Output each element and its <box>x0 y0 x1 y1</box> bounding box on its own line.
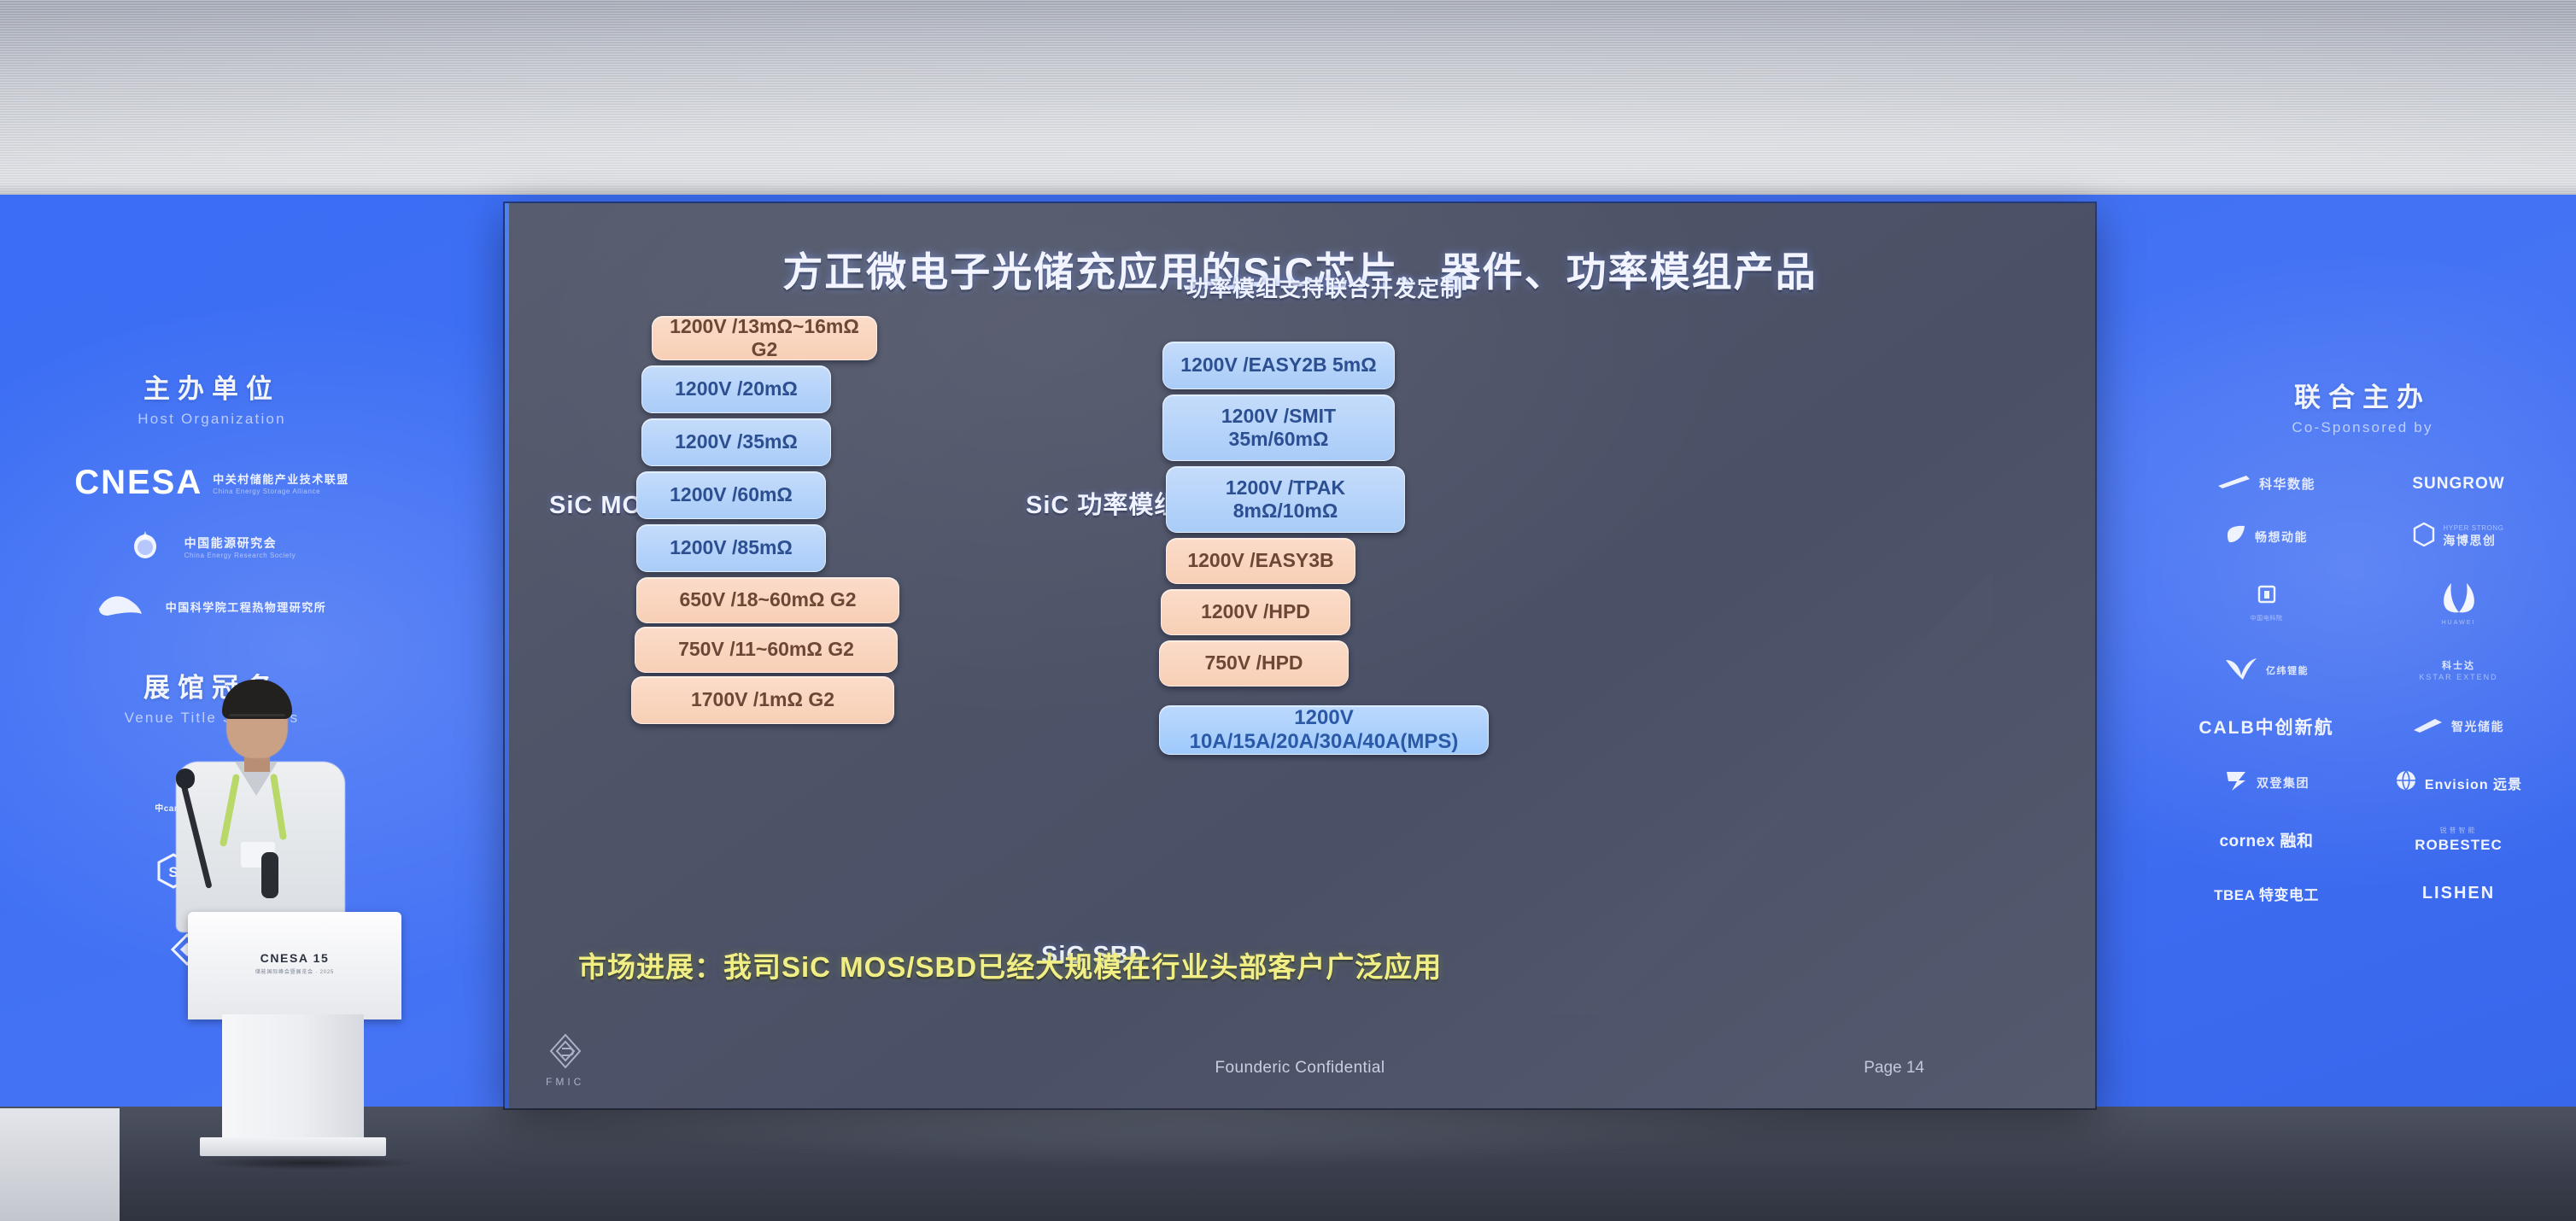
calb-icon: CALB中创新航 <box>2198 714 2333 739</box>
wave-icon <box>97 592 143 622</box>
kstar-logo: 科士达 KSTAR EXTEND <box>2419 658 2497 681</box>
engineering-thermophysics-logo: 中国科学院工程热物理研究所 <box>97 592 327 622</box>
host-organization-panel: 主办单位 Host Organization CNESA 中关村储能产业技术联盟… <box>41 367 383 622</box>
changxiang-logo: 畅想动能 <box>2225 524 2308 549</box>
podium-top: CNESA 15 储能国际峰会暨展览会 · 2025 <box>188 912 401 1019</box>
leaf-icon <box>2225 524 2247 549</box>
host-panel-title-cn: 主办单位 <box>41 367 383 406</box>
cornex-icon: cornex 融和 <box>2219 828 2313 851</box>
speaker-glasses <box>229 714 285 725</box>
hyperstrong-logo-right: HYPER STRONG 海博思创 <box>2413 523 2503 551</box>
stage-scene: 主办单位 Host Organization CNESA 中关村储能产业技术联盟… <box>0 0 2576 1221</box>
sungrow-wordmark: SUNGROW <box>2412 475 2504 494</box>
tbea-logo: TBEA 特变电工 <box>2214 883 2319 904</box>
wing-icon <box>2413 716 2444 738</box>
podium-logo-sub: 储能国际峰会暨展览会 · 2025 <box>188 967 401 975</box>
cepri-logo-right: 中国电科院 <box>2251 584 2283 622</box>
y-icon <box>2224 655 2258 685</box>
podium-shadow <box>203 1156 417 1170</box>
podium: CNESA 15 储能国际峰会暨展览会 · 2025 <box>188 912 401 1168</box>
cnesa-wordmark: CNESA <box>74 464 202 502</box>
sic-sbd-pill-1[interactable]: 1200V 10A/15A/20A/30A/40A(MPS) <box>1159 705 1489 755</box>
sungrow-logo: SUNGROW <box>2412 475 2504 494</box>
speaker: CNESA 15 储能国际峰会暨展览会 · 2025 <box>94 666 401 1221</box>
robestec-icon: ROBESTEC <box>2415 837 2502 854</box>
sic-mos-pill-1[interactable]: 1200V /13mΩ~16mΩ G2 <box>652 316 877 360</box>
power-module-note: 功率模组支持联合开发定制 <box>1103 272 1547 303</box>
robestec-logo: 锐普智能 ROBESTEC <box>2415 826 2502 854</box>
tbea-icon: TBEA 特变电工 <box>2214 883 2319 904</box>
sic-mos-pill-6[interactable]: 650V /18~60mΩ G2 <box>636 577 899 623</box>
shuangdeng-logo: 双登集团 <box>2223 768 2310 797</box>
sic-mos-pill-2[interactable]: 1200V /20mΩ <box>641 365 831 413</box>
screen-left-edge-glow <box>505 203 509 1108</box>
sic-mos-pill-4[interactable]: 1200V /60mΩ <box>636 471 826 519</box>
footer-page-number: Page 14 <box>1864 1059 1924 1078</box>
ceiling-texture <box>0 0 2576 213</box>
power-module-pill-5[interactable]: 1200V /HPD <box>1161 589 1350 635</box>
podium-base <box>200 1137 386 1156</box>
swoosh-icon <box>2217 474 2251 494</box>
floor-reflection <box>547 1107 1828 1166</box>
cosponsor-title-cn: 联合主办 <box>2175 376 2550 414</box>
handheld-microphone <box>261 852 278 898</box>
sic-mos-pill-8[interactable]: 1700V /1mΩ G2 <box>631 676 894 724</box>
power-module-pill-1[interactable]: 1200V /EASY2B 5mΩ <box>1162 342 1395 389</box>
cnesa-chinese-name: 中关村储能产业技术联盟 China Energy Storage Allianc… <box>213 470 349 495</box>
power-module-pill-3[interactable]: 1200V /TPAK 8mΩ/10mΩ <box>1166 466 1405 533</box>
sic-mos-pill-3[interactable]: 1200V /35mΩ <box>641 418 831 466</box>
cosponsor-title-en: Co-Sponsored by <box>2175 419 2550 436</box>
lishen-logo: LISHEN <box>2422 884 2495 903</box>
huawei-logo: HUAWEI <box>2436 580 2482 626</box>
footer-confidential-text: Founderic Confidential <box>505 1059 2095 1078</box>
grid-icon <box>2254 584 2280 610</box>
energy-research-society-logo: 中国能源研究会 China Energy Research Society <box>128 528 296 566</box>
host-panel-title-en: Host Organization <box>41 411 383 428</box>
power-module-pill-6[interactable]: 750V /HPD <box>1159 640 1349 686</box>
text-icon: 科士达 <box>2442 658 2475 672</box>
podium-logo: CNESA 15 储能国际峰会暨展览会 · 2025 <box>188 951 401 975</box>
power-module-pill-2[interactable]: 1200V /SMIT 35m/60mΩ <box>1162 394 1395 461</box>
fmic-wordmark: FMIC <box>546 1076 584 1088</box>
cornex-logo: cornex 融和 <box>2219 828 2313 851</box>
calb-logo: CALB中创新航 <box>2198 714 2333 739</box>
power-module-pill-4[interactable]: 1200V /EASY3B <box>1166 538 1355 584</box>
cnesa-logo: CNESA 中关村储能产业技术联盟 China Energy Storage A… <box>74 464 349 502</box>
sic-mos-pill-7[interactable]: 750V /11~60mΩ G2 <box>635 627 898 673</box>
ceiling <box>0 0 2576 213</box>
podium-column <box>222 1014 364 1142</box>
lishen-icon: LISHEN <box>2422 884 2495 903</box>
eve-logo: 亿纬锂能 <box>2224 655 2309 685</box>
cosponsor-panel: 联合主办 Co-Sponsored by 科华数能 SUNGROW 畅想动能 <box>2175 376 2550 904</box>
slide-footer: FMIC Founderic Confidential Page 14 <box>505 1043 2095 1093</box>
podium-logo-main: CNESA 15 <box>188 951 401 965</box>
ss-icon <box>2223 768 2249 797</box>
sic-mos-pill-5[interactable]: 1200V /85mΩ <box>636 524 826 572</box>
market-progress-text: 市场进展：我司SiC MOS/SBD已经大规模在行业头部客户广泛应用 <box>578 944 2030 985</box>
envision-logo: Envision 远景 <box>2395 769 2522 796</box>
group-label-power-module: SiC 功率模组 <box>1026 485 1180 521</box>
microphone-head <box>176 768 195 789</box>
presentation-screen[interactable]: 方正微电子光储充应用的SiC芯片、器件、功率模组产品 SiC MOS SiC 功… <box>505 203 2095 1108</box>
zhiguang-logo: 智光储能 <box>2413 716 2504 738</box>
globe-icon <box>2395 769 2417 796</box>
hex-icon <box>2413 523 2435 551</box>
flower-icon <box>128 528 162 566</box>
petal-icon <box>2436 580 2482 618</box>
kehua-logo: 科华数能 <box>2217 474 2315 494</box>
